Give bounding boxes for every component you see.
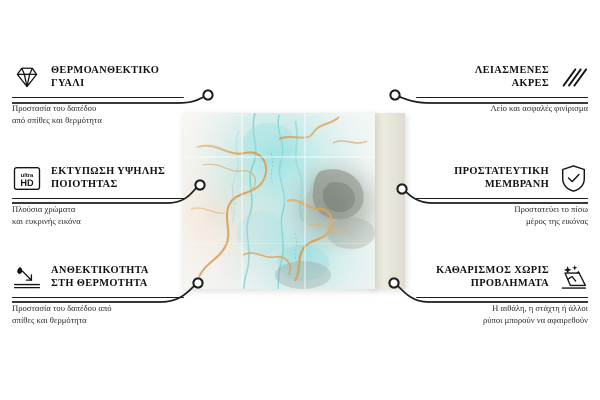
feature-title: ΕΚΤΥΠΩΣΗ ΥΨΗΛΗΣ ΠΟΙΟΤΗΤΑΣ — [51, 165, 165, 191]
feature-divider — [12, 297, 184, 298]
feature-header: ΑΝΘΕΚΤΙΚΟΤΗΤΑ ΣΤΗ ΘΕΡΜΟΤΗΤΑ — [12, 262, 184, 292]
diamond-icon — [12, 62, 42, 92]
feature-title: ΚΑΘΑΡΙΣΜΟΣ ΧΩΡΙΣ ΠΡΟΒΛΗΜΑΤΑ — [436, 264, 549, 290]
feature-divider — [416, 97, 588, 98]
feature-header: ΚΑΘΑΡΙΣΜΟΣ ΧΩΡΙΣ ΠΡΟΒΛΗΜΑΤΑ — [416, 262, 588, 292]
abstract-marble-artwork — [183, 113, 375, 289]
feature-description: Προστατεύει το πίσω μέρος της εικόνας — [416, 204, 588, 227]
product-front-face — [183, 113, 375, 289]
feature-title: ΑΝΘΕΚΤΙΚΟΤΗΤΑ ΣΤΗ ΘΕΡΜΟΤΗΤΑ — [51, 264, 149, 290]
feature-high-quality-print: ultra HD ΕΚΤΥΠΩΣΗ ΥΨΗΛΗΣ ΠΟΙΟΤΗΤΑΣ Πλούσ… — [12, 163, 184, 227]
feature-header: ΛΕΙΑΣΜΕΝΕΣ ΑΚΡΕΣ — [416, 62, 588, 92]
feature-description: Λείο και ασφαλές φινίρισμα — [416, 103, 588, 114]
feature-description: Πλούσια χρώματα και ευκρινής εικόνα — [12, 204, 184, 227]
ultra-hd-bottom-label: HD — [20, 178, 34, 188]
feature-divider — [416, 198, 588, 199]
feature-easy-cleaning: ΚΑΘΑΡΙΣΜΟΣ ΧΩΡΙΣ ΠΡΟΒΛΗΜΑΤΑ Η αιθάλη, η … — [416, 262, 588, 326]
feature-polished-edges: ΛΕΙΑΣΜΕΝΕΣ ΑΚΡΕΣ Λείο και ασφαλές φινίρι… — [416, 62, 588, 115]
feature-divider — [12, 198, 184, 199]
feature-header: ΘΕΡΜΟΑΝΘΕΚΤΙΚΟ ΓΥΑΛΙ — [12, 62, 184, 92]
feature-header: ΠΡΟΣΤΑΤΕΥΤΙΚΗ ΜΕΜΒΡΑΝΗ — [416, 163, 588, 193]
sparkle-clean-icon — [558, 262, 588, 292]
feature-title: ΘΕΡΜΟΑΝΘΕΚΤΙΚΟ ΓΥΑΛΙ — [51, 64, 159, 90]
feature-heat-durability: ΑΝΘΕΚΤΙΚΟΤΗΤΑ ΣΤΗ ΘΕΡΜΟΤΗΤΑ Προστασία το… — [12, 262, 184, 326]
feature-description: Η αιθάλη, η στάχτη ή άλλοι ρύποι μπορούν… — [416, 303, 588, 326]
ultra-hd-icon: ultra HD — [12, 163, 42, 193]
feature-divider — [416, 297, 588, 298]
infographic-canvas: ΘΕΡΜΟΑΝΘΕΚΤΙΚΟ ΓΥΑΛΙ Προστασία του δαπέδ… — [0, 0, 600, 400]
feature-header: ultra HD ΕΚΤΥΠΩΣΗ ΥΨΗΛΗΣ ΠΟΙΟΤΗΤΑΣ — [12, 163, 184, 193]
feature-description: Προστασία του δαπέδου από σπίθες και θερ… — [12, 303, 184, 326]
product-image — [183, 113, 405, 289]
flame-deflect-icon — [12, 262, 42, 292]
feature-protective-membrane: ΠΡΟΣΤΑΤΕΥΤΙΚΗ ΜΕΜΒΡΑΝΗ Προστατεύει το πί… — [416, 163, 588, 227]
callout-dot — [203, 90, 212, 99]
feature-description: Προστασία του δαπέδου από σπίθες και θερ… — [12, 103, 184, 126]
diagonal-lines-icon — [558, 62, 588, 92]
feature-heat-resistant-glass: ΘΕΡΜΟΑΝΘΕΚΤΙΚΟ ΓΥΑΛΙ Προστασία του δαπέδ… — [12, 62, 184, 126]
callout-dot — [390, 90, 399, 99]
feature-title: ΠΡΟΣΤΑΤΕΥΤΙΚΗ ΜΕΜΒΡΑΝΗ — [454, 165, 549, 191]
feature-divider — [12, 97, 184, 98]
feature-title: ΛΕΙΑΣΜΕΝΕΣ ΑΚΡΕΣ — [475, 64, 549, 90]
shield-check-icon — [558, 163, 588, 193]
